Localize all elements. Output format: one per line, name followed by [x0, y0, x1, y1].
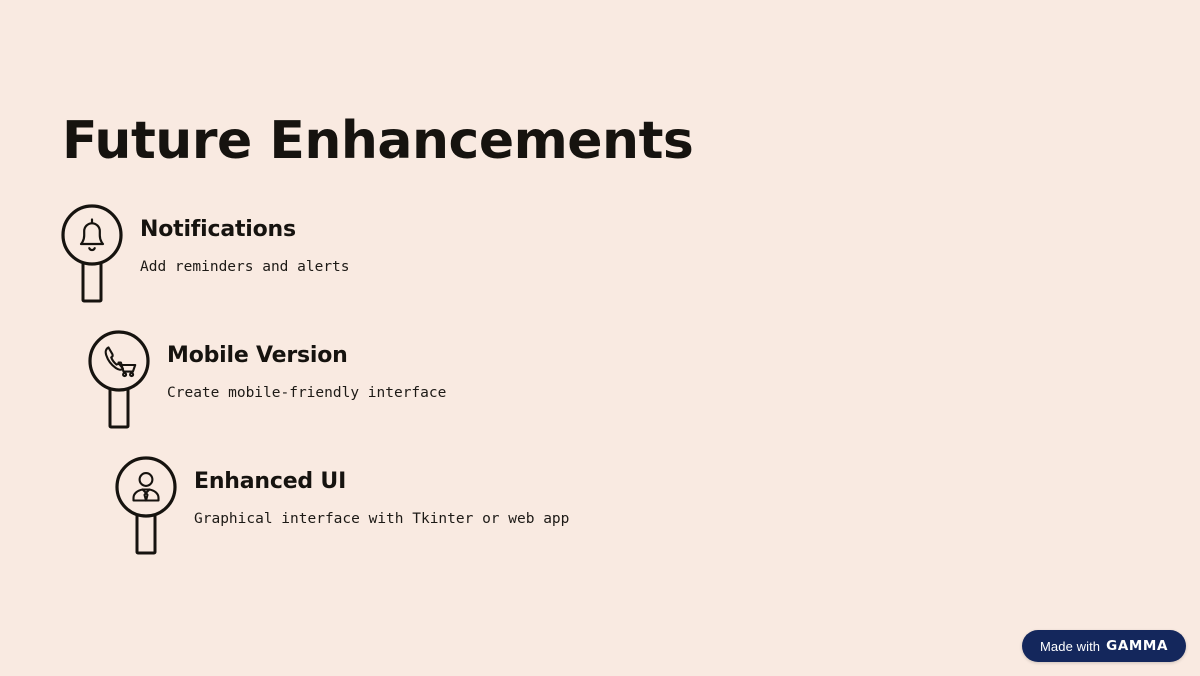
feature-description: Create mobile-friendly interface [167, 383, 446, 403]
page-title: Future Enhancements [62, 112, 693, 172]
list-item: Mobile Version Create mobile-friendly in… [0, 329, 1200, 455]
business-person-icon [114, 455, 178, 555]
feature-text: Enhanced UI Graphical interface with Tki… [194, 455, 569, 530]
list-item: Notifications Add reminders and alerts [0, 203, 1200, 329]
badge-brand-label: GAMMA [1106, 638, 1168, 654]
phone-cart-icon [87, 329, 151, 429]
feature-list: Notifications Add reminders and alerts [0, 203, 1200, 581]
made-with-gamma-badge[interactable]: Made with GAMMA [1022, 630, 1186, 662]
feature-title: Mobile Version [167, 343, 446, 369]
feature-text: Mobile Version Create mobile-friendly in… [167, 329, 446, 404]
feature-description: Add reminders and alerts [140, 257, 350, 277]
feature-description: Graphical interface with Tkinter or web … [194, 509, 569, 529]
list-item: Enhanced UI Graphical interface with Tki… [0, 455, 1200, 581]
bell-icon [60, 203, 124, 303]
feature-text: Notifications Add reminders and alerts [140, 203, 350, 278]
badge-made-with-label: Made with [1040, 639, 1100, 654]
feature-title: Enhanced UI [194, 469, 569, 495]
slide: Future Enhancements No [0, 0, 1200, 676]
feature-title: Notifications [140, 217, 350, 243]
